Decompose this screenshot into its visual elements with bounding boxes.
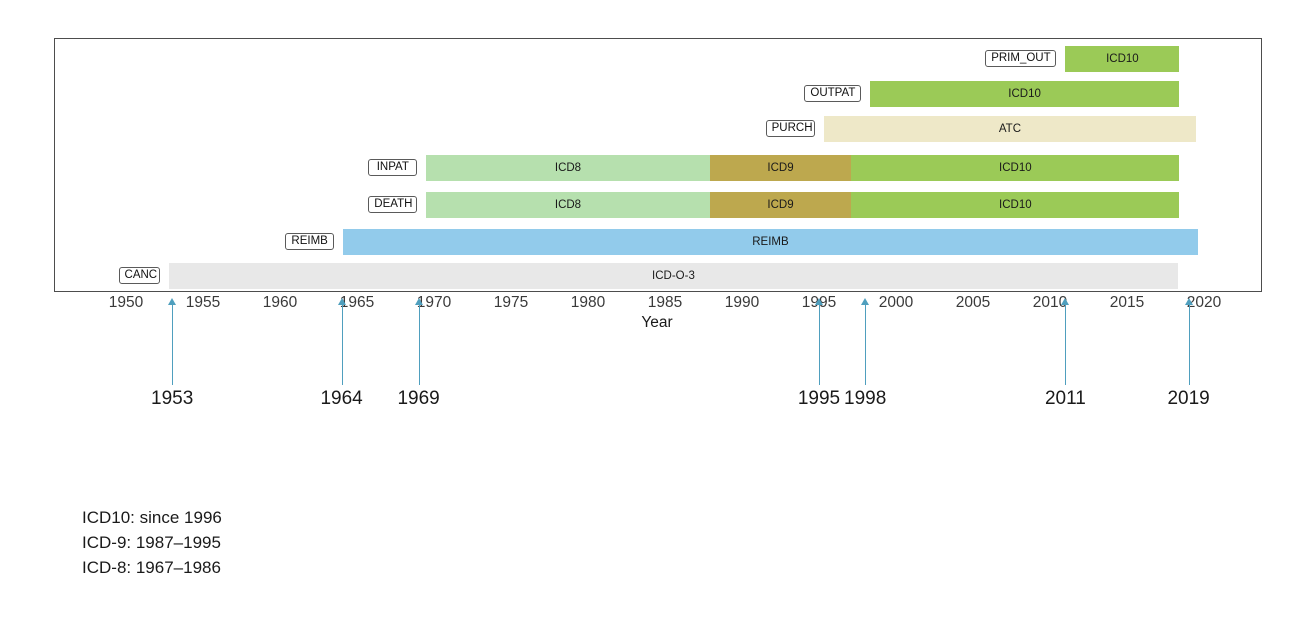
register-tag-reimb[interactable]: REIMB bbox=[285, 233, 334, 250]
annotation-leader-line bbox=[342, 305, 343, 385]
bar-segment: ICD9 bbox=[710, 155, 852, 181]
bar-segment: ICD10 bbox=[851, 155, 1179, 181]
x-tick-label: 1975 bbox=[494, 294, 528, 312]
bar-segment: ICD9 bbox=[710, 192, 852, 218]
x-tick-label: 1990 bbox=[725, 294, 759, 312]
footnote-line: ICD-9: 1987–1995 bbox=[82, 530, 222, 555]
register-track: ICD8ICD9ICD10 bbox=[426, 192, 1179, 218]
bar-segment-label: ICD8 bbox=[555, 162, 581, 174]
register-track: ICD-O-3 bbox=[169, 263, 1178, 289]
register-tag-prim_out[interactable]: PRIM_OUT bbox=[985, 50, 1056, 67]
bar-segment: ATC bbox=[824, 116, 1197, 142]
footnote-line: ICD-8: 1967–1986 bbox=[82, 555, 222, 580]
annotation-leader-line bbox=[419, 305, 420, 385]
timeline-chart: ICD10PRIM_OUTICD10OUTPATATCPURCHICD8ICD9… bbox=[0, 0, 1314, 631]
bar-segment: ICD10 bbox=[1065, 46, 1179, 72]
annotation-leader-line bbox=[1065, 305, 1066, 385]
bar-segment: ICD8 bbox=[426, 192, 709, 218]
annotation-label: 2019 bbox=[1167, 388, 1209, 410]
annotation-arrow-icon bbox=[815, 298, 823, 305]
annotation-label: 1964 bbox=[320, 388, 362, 410]
annotation-label: 1998 bbox=[844, 388, 886, 410]
register-track: ICD8ICD9ICD10 bbox=[426, 155, 1179, 181]
register-tag-death[interactable]: DEATH bbox=[368, 196, 417, 213]
annotation-label: 1969 bbox=[397, 388, 439, 410]
annotation-arrow-icon bbox=[415, 298, 423, 305]
bar-segment: ICD8 bbox=[426, 155, 709, 181]
bar-segment-label: ATC bbox=[999, 123, 1021, 135]
x-tick-label: 1985 bbox=[648, 294, 682, 312]
annotation-leader-line bbox=[865, 305, 866, 385]
register-tag-canc[interactable]: CANC bbox=[119, 267, 161, 284]
bar-segment-label: REIMB bbox=[752, 236, 788, 248]
x-tick-label: 1960 bbox=[263, 294, 297, 312]
bar-segment: ICD10 bbox=[851, 192, 1179, 218]
bar-segment: ICD-O-3 bbox=[169, 263, 1178, 289]
x-tick-label: 1980 bbox=[571, 294, 605, 312]
register-track: REIMB bbox=[343, 229, 1198, 255]
annotation-arrow-icon bbox=[168, 298, 176, 305]
annotation-arrow-icon bbox=[338, 298, 346, 305]
footnote-line: ICD10: since 1996 bbox=[82, 505, 222, 530]
annotation-arrow-icon bbox=[1185, 298, 1193, 305]
bar-segment-label: ICD8 bbox=[555, 199, 581, 211]
bar-segment-label: ICD9 bbox=[767, 199, 793, 211]
bar-segment-label: ICD10 bbox=[1008, 88, 1041, 100]
register-tag-purch[interactable]: PURCH bbox=[766, 120, 815, 137]
bar-segment: REIMB bbox=[343, 229, 1198, 255]
bar-segment-label: ICD9 bbox=[767, 162, 793, 174]
x-axis-title: Year bbox=[0, 314, 1314, 332]
bar-segment-label: ICD10 bbox=[1106, 53, 1139, 65]
annotation-label: 1953 bbox=[151, 388, 193, 410]
bar-segment-label: ICD10 bbox=[999, 199, 1032, 211]
annotation-leader-line bbox=[819, 305, 820, 385]
annotation-arrow-icon bbox=[1061, 298, 1069, 305]
annotation-label: 2011 bbox=[1045, 388, 1086, 410]
bar-segment-label: ICD-O-3 bbox=[652, 270, 695, 282]
x-tick-label: 2005 bbox=[956, 294, 990, 312]
register-track: ICD10 bbox=[870, 81, 1180, 107]
annotation-arrow-icon bbox=[861, 298, 869, 305]
annotation-label: 1995 bbox=[798, 388, 840, 410]
footnote-legend: ICD10: since 1996ICD-9: 1987–1995ICD-8: … bbox=[82, 505, 222, 580]
x-tick-label: 2000 bbox=[879, 294, 913, 312]
bar-segment-label: ICD10 bbox=[999, 162, 1032, 174]
register-tag-outpat[interactable]: OUTPAT bbox=[804, 85, 860, 102]
register-track: ICD10 bbox=[1065, 46, 1179, 72]
register-tag-inpat[interactable]: INPAT bbox=[368, 159, 417, 176]
register-track: ATC bbox=[824, 116, 1197, 142]
annotation-leader-line bbox=[1189, 305, 1190, 385]
x-tick-label: 2015 bbox=[1110, 294, 1144, 312]
x-tick-label: 1955 bbox=[186, 294, 220, 312]
annotation-leader-line bbox=[172, 305, 173, 385]
bar-segment: ICD10 bbox=[870, 81, 1180, 107]
x-tick-label: 1950 bbox=[109, 294, 143, 312]
